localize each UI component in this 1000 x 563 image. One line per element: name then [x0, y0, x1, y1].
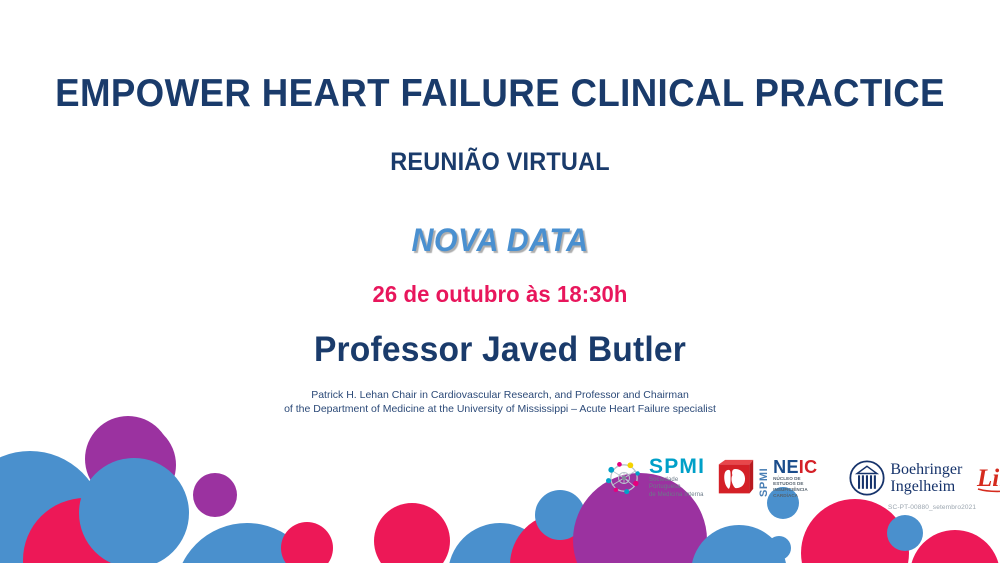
decorative-circle [193, 473, 237, 517]
decorative-circle [281, 522, 333, 563]
new-date-highlight: NOVA DATA [25, 222, 975, 259]
neic-wordmark: NEIC NÚCLEO DE ESTUDOS DE INSUFICIÊNCIA … [773, 458, 817, 498]
neic-name-part-2: IC [799, 457, 818, 477]
boehringer-temple-icon [849, 460, 885, 496]
page-title: EMPOWER HEART FAILURE CLINICAL PRACTICE [30, 72, 970, 116]
boehringer-line-2: Ingelheim [890, 478, 962, 495]
boehringer-line-1: Boehringer [890, 461, 962, 478]
speaker-description: Patrick H. Lehan Chair in Cardiovascular… [0, 388, 1000, 416]
svg-text:Lilly: Lilly [976, 465, 1000, 492]
neic-heart-cube-icon [717, 459, 755, 497]
logo-lilly: Lilly [975, 462, 1000, 494]
legal-code: SC-PT-00880_setembro2021 [888, 504, 976, 511]
logo-spmi: SPMI Sociedade Portuguesa de Medicina In… [604, 456, 705, 500]
speaker-description-line-1: Patrick H. Lehan Chair in Cardiovascular… [0, 388, 1000, 402]
event-date-text: 26 de outubro às 18:30h [20, 281, 980, 308]
spmi-wordmark: SPMI Sociedade Portuguesa de Medicina In… [649, 457, 705, 500]
logo-row: SPMI Sociedade Portuguesa de Medicina In… [604, 452, 1000, 504]
decorative-circle [374, 503, 450, 563]
spmi-name: SPMI [649, 457, 705, 477]
page-subtitle: REUNIÃO VIRTUAL [30, 148, 970, 177]
speaker-description-line-2: of the Department of Medicine at the Uni… [0, 402, 1000, 416]
neic-name-part-1: NE [773, 457, 799, 477]
decorative-circle [910, 530, 1000, 563]
speaker-name: Professor Javed Butler [20, 330, 980, 370]
neic-tagline-line-2: INSUFICIÊNCIA CARDÍACA [773, 487, 817, 498]
boehringer-wordmark: Boehringer Ingelheim [890, 461, 962, 495]
spmi-tagline-line-2: de Medicina Interna [649, 492, 705, 500]
decorative-circle [767, 536, 791, 560]
spmi-molecule-icon [604, 458, 644, 498]
logo-neic: SPMI NEIC NÚCLEO DE ESTUDOS DE INSUFICIÊ… [717, 457, 817, 499]
decorative-circle [887, 515, 923, 551]
neic-vertical-spmi-label: SPMI [758, 459, 770, 497]
lilly-script-wordmark: Lilly [975, 462, 1000, 494]
spmi-tagline-line-1: Sociedade Portuguesa [649, 477, 705, 492]
decorative-circle [79, 458, 189, 563]
neic-name: NEIC [773, 458, 817, 476]
logo-boehringer-ingelheim: Boehringer Ingelheim [849, 460, 962, 496]
presentation-slide: EMPOWER HEART FAILURE CLINICAL PRACTICE … [0, 0, 1000, 563]
neic-tagline-line-1: NÚCLEO DE ESTUDOS DE [773, 476, 817, 487]
